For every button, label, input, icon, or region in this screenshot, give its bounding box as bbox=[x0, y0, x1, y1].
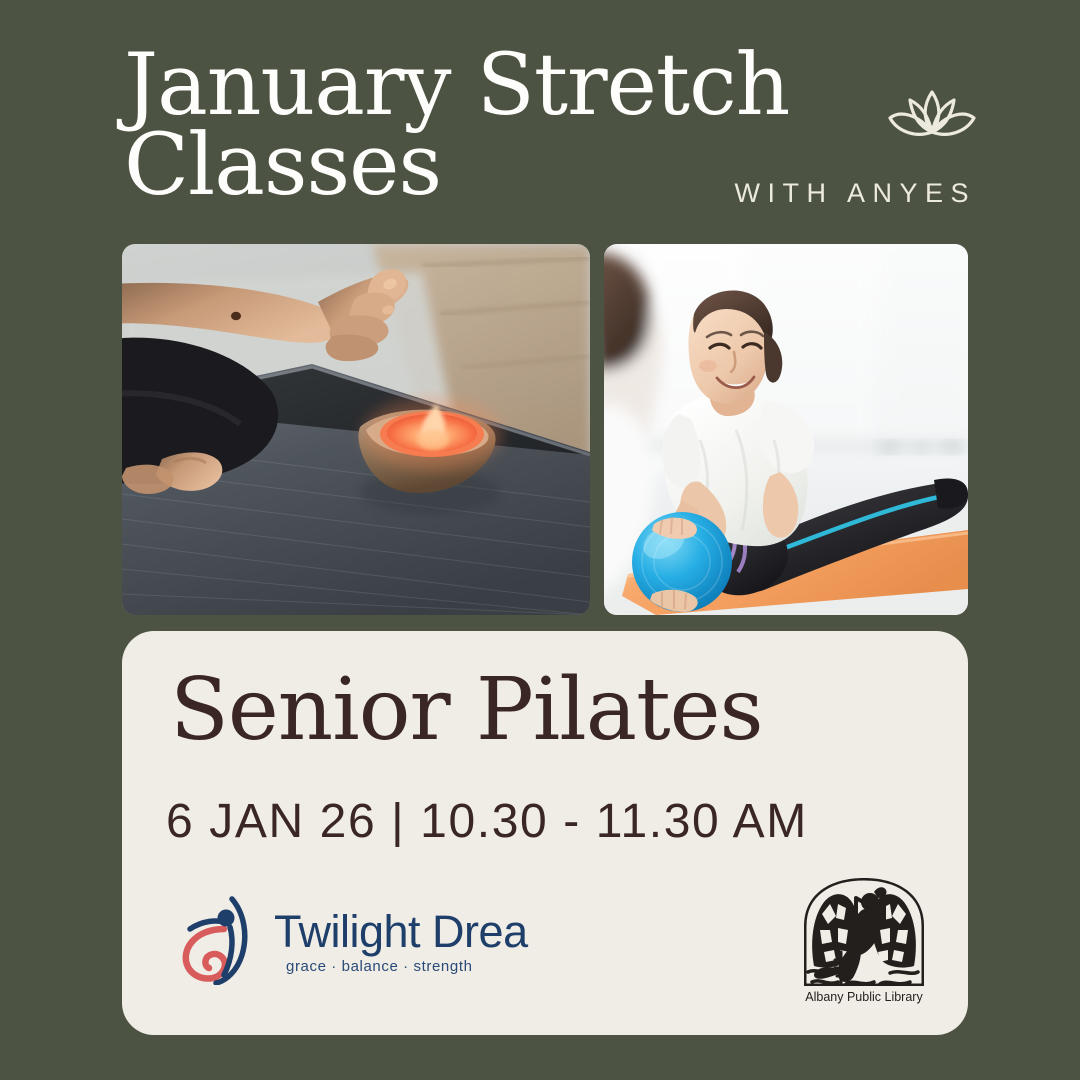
albany-public-library-wordmark: Albany Public Library bbox=[805, 990, 923, 1004]
twilight-dreams-wordmark: Twilight Dreams bbox=[274, 906, 530, 957]
senior-pilates-ball-photo bbox=[604, 244, 968, 615]
poster-title: January Stretch Classes bbox=[124, 46, 764, 206]
twilight-dreams-tagline: grace · balance · strength bbox=[286, 958, 473, 975]
meditation-candle-photo bbox=[122, 244, 590, 615]
poster-title-line-2: Classes bbox=[124, 126, 764, 206]
albany-public-library-logo: Albany Public Library bbox=[794, 874, 934, 1006]
instructor-label: WITH ANYES bbox=[734, 178, 976, 209]
lotus-icon bbox=[884, 86, 980, 148]
class-title: Senior Pilates bbox=[170, 667, 763, 753]
poster-title-line-1: January Stretch bbox=[124, 46, 764, 126]
twilight-dreams-logo: Twilight Dreams grace · balance · streng… bbox=[178, 893, 530, 985]
poster-canvas: January Stretch Classes WITH ANYES bbox=[0, 0, 1080, 1080]
class-schedule: 6 JAN 26 | 10.30 - 11.30 AM bbox=[166, 794, 808, 849]
